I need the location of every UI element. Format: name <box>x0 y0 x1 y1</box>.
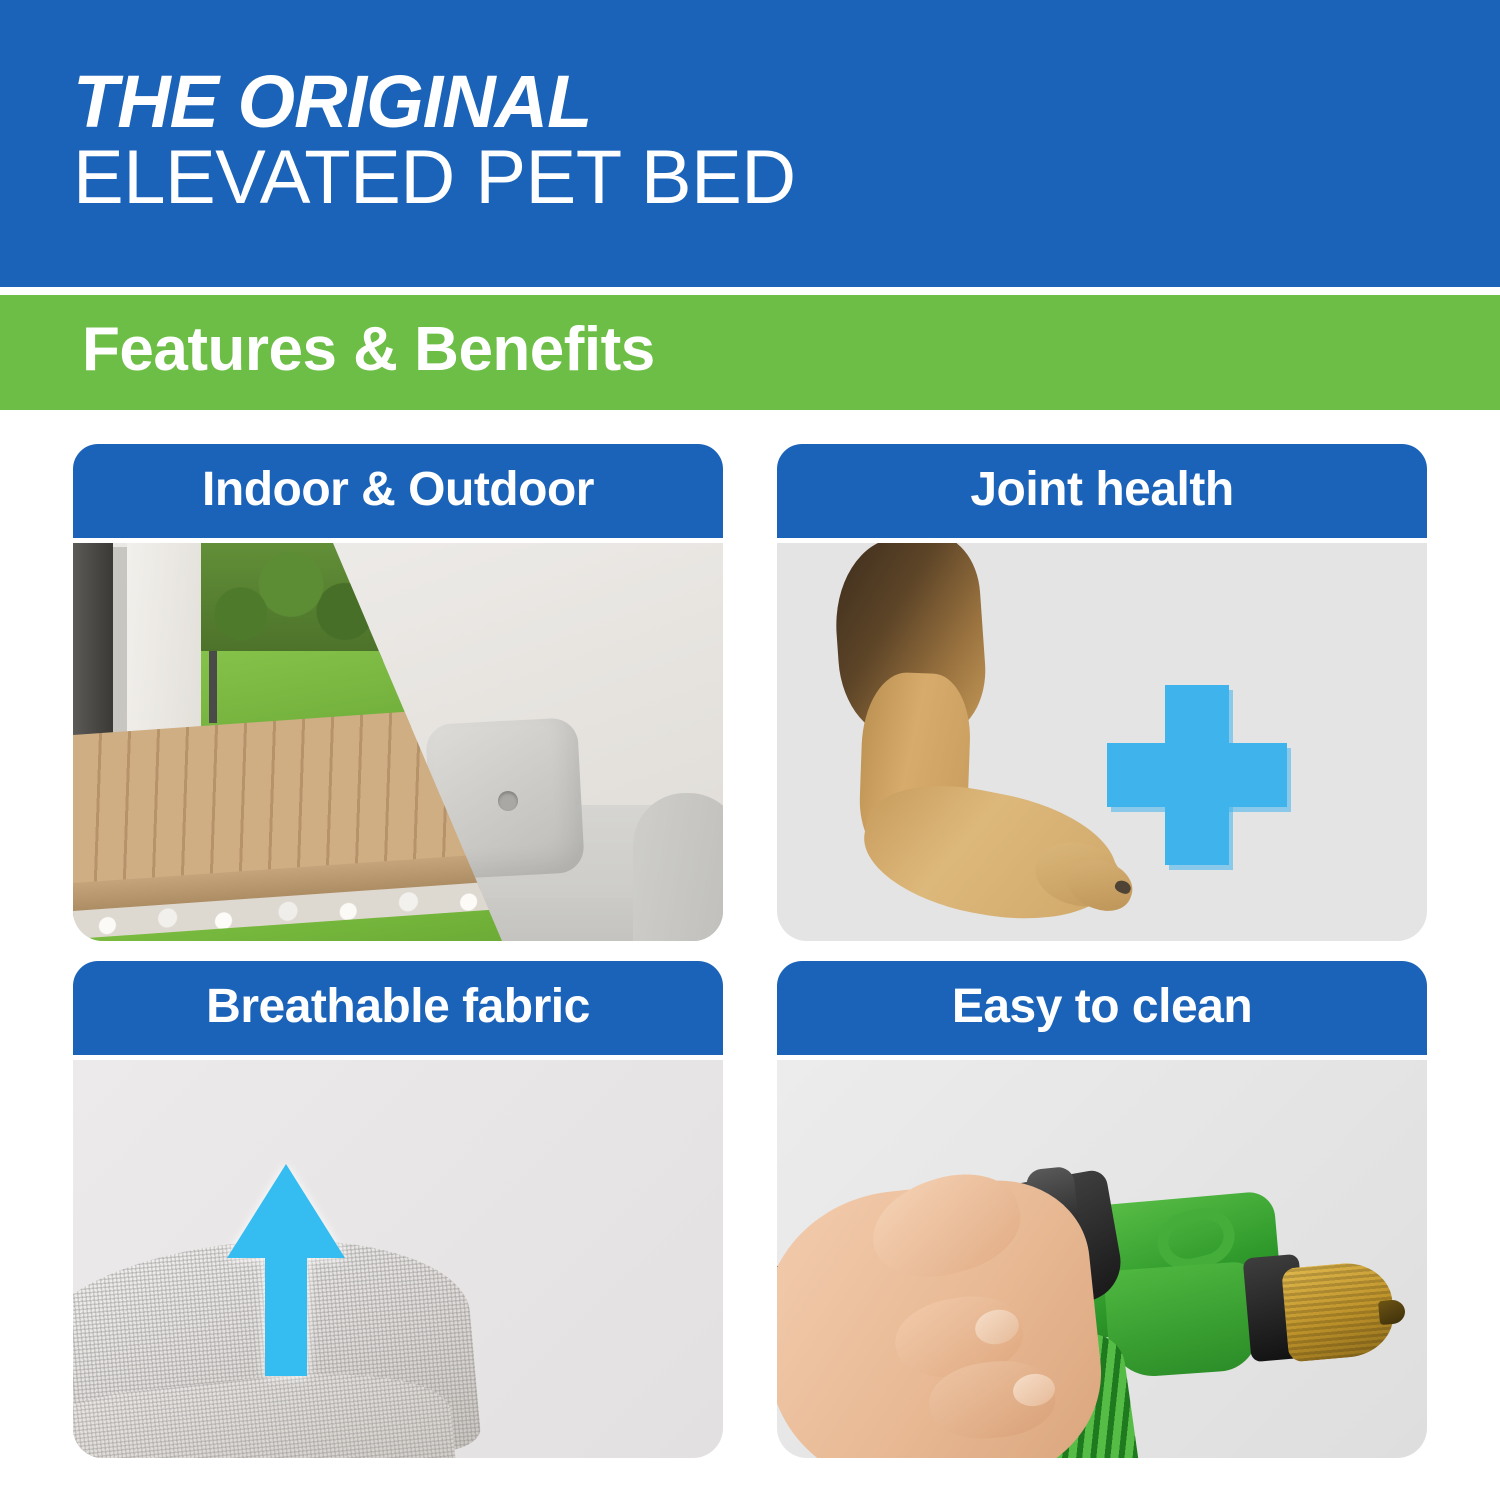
sofa-armrest <box>633 793 723 941</box>
card-header-easy-to-clean: Easy to clean <box>777 961 1427 1055</box>
wall-pillar <box>127 543 205 748</box>
arrow-stem <box>265 1256 307 1376</box>
glass-door <box>73 543 113 743</box>
feature-card-breathable-fabric[interactable]: Breathable fabric <box>73 961 723 1458</box>
card-title-indoor-outdoor: Indoor & Outdoor <box>202 466 594 514</box>
card-title-easy-to-clean: Easy to clean <box>952 983 1252 1031</box>
card-image-easy-to-clean <box>777 1060 1427 1458</box>
nozzle-neck <box>1103 1261 1260 1379</box>
card-image-breathable-fabric <box>73 1060 723 1458</box>
door-frame <box>113 547 127 737</box>
features-banner: Features & Benefits <box>0 295 1500 410</box>
card-title-joint-health: Joint health <box>970 466 1233 514</box>
feature-card-grid: Indoor & Outdoor <box>73 444 1427 1458</box>
title-line-product: ELEVATED PET BED <box>73 141 796 215</box>
card-header-breathable-fabric: Breathable fabric <box>73 961 723 1055</box>
dog-paw-illustration <box>777 543 1427 941</box>
feature-card-joint-health[interactable]: Joint health <box>777 444 1427 941</box>
cushion-button <box>498 791 518 811</box>
header-band: THE ORIGINAL ELEVATED PET BED <box>0 0 1500 287</box>
card-header-joint-health: Joint health <box>777 444 1427 538</box>
garden-post <box>209 651 217 723</box>
card-image-indoor-outdoor <box>73 543 723 941</box>
nozzle-outlet <box>1378 1299 1406 1325</box>
card-header-indoor-outdoor: Indoor & Outdoor <box>73 444 723 538</box>
title-line-original: THE ORIGINAL <box>73 66 796 139</box>
page-title: THE ORIGINAL ELEVATED PET BED <box>73 66 796 215</box>
feature-card-easy-to-clean[interactable]: Easy to clean <box>777 961 1427 1458</box>
arrow-head <box>227 1164 345 1258</box>
features-banner-label: Features & Benefits <box>82 314 655 385</box>
feature-card-indoor-outdoor[interactable]: Indoor & Outdoor <box>73 444 723 941</box>
airflow-arrow-icon <box>227 1164 345 1374</box>
card-title-breathable-fabric: Breathable fabric <box>206 983 590 1031</box>
medical-cross-icon <box>1107 685 1287 865</box>
card-image-joint-health <box>777 543 1427 941</box>
